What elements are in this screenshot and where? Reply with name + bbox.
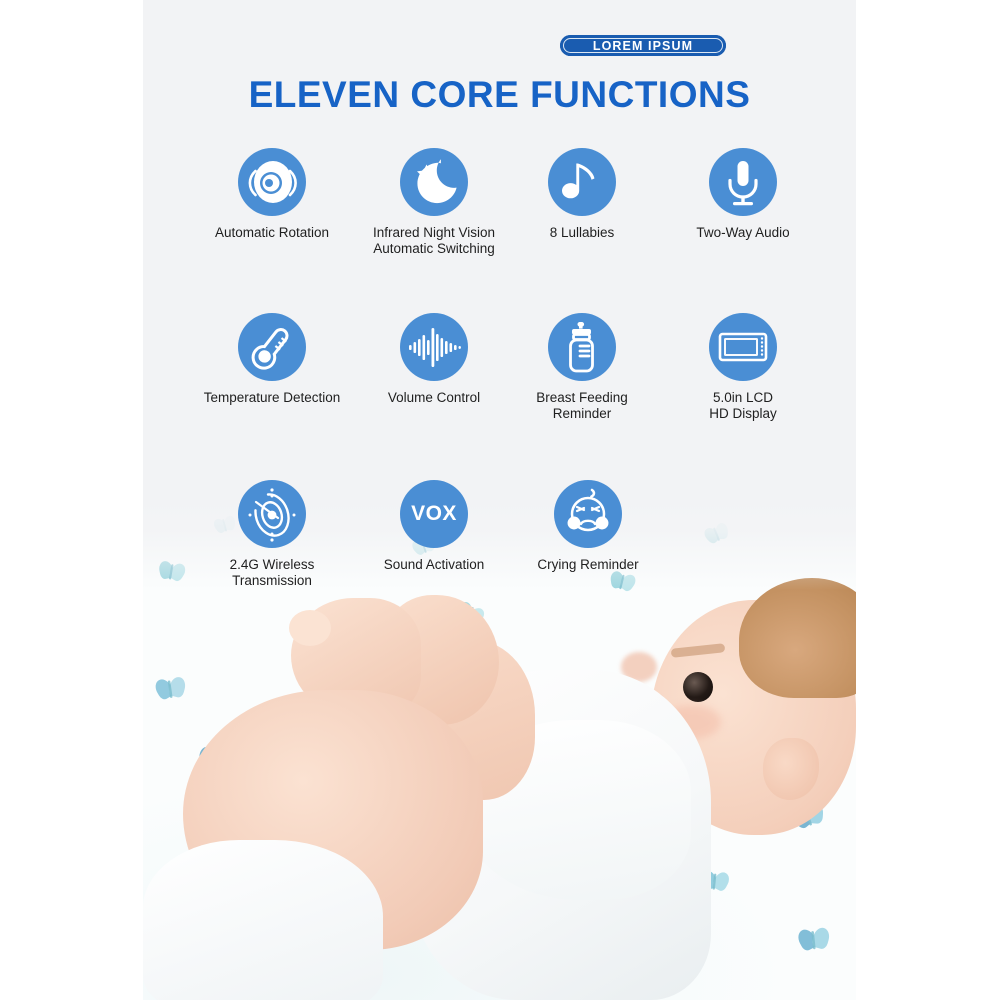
- lcd-monitor-icon: [709, 313, 777, 381]
- waveform-icon: [400, 313, 468, 381]
- feature-label: 5.0in LCD HD Display: [648, 390, 838, 422]
- page-title: ELEVEN CORE FUNCTIONS: [143, 74, 856, 116]
- vox-label: VOX: [400, 480, 468, 548]
- rotating-camera-icon: [238, 148, 306, 216]
- radar-signal-icon: [238, 480, 306, 548]
- feature-lcd-display[interactable]: 5.0in LCD HD Display: [648, 313, 838, 422]
- baby-toes: [289, 610, 331, 646]
- vox-text-icon: VOX: [400, 480, 468, 548]
- moon-star-icon: [400, 148, 468, 216]
- feature-label: Two-Way Audio: [648, 225, 838, 241]
- badge-label: LOREM IPSUM: [593, 39, 693, 53]
- baby-bottle-icon: [548, 313, 616, 381]
- feature-crying-reminder[interactable]: Crying Reminder: [493, 480, 683, 573]
- lorem-ipsum-badge: LOREM IPSUM: [560, 35, 726, 56]
- microphone-icon: [709, 148, 777, 216]
- music-note-icon: [548, 148, 616, 216]
- content-panel: LOREM IPSUM ELEVEN CORE FUNCTIONS Automa…: [143, 0, 856, 1000]
- crying-baby-icon: [554, 480, 622, 548]
- baby-eye: [683, 672, 713, 702]
- baby-onesie-hem: [143, 840, 383, 1000]
- page-root: LOREM IPSUM ELEVEN CORE FUNCTIONS Automa…: [0, 0, 1000, 1000]
- feature-label: Crying Reminder: [493, 557, 683, 573]
- thermometer-icon: [238, 313, 306, 381]
- feature-two-way-audio[interactable]: Two-Way Audio: [648, 148, 838, 241]
